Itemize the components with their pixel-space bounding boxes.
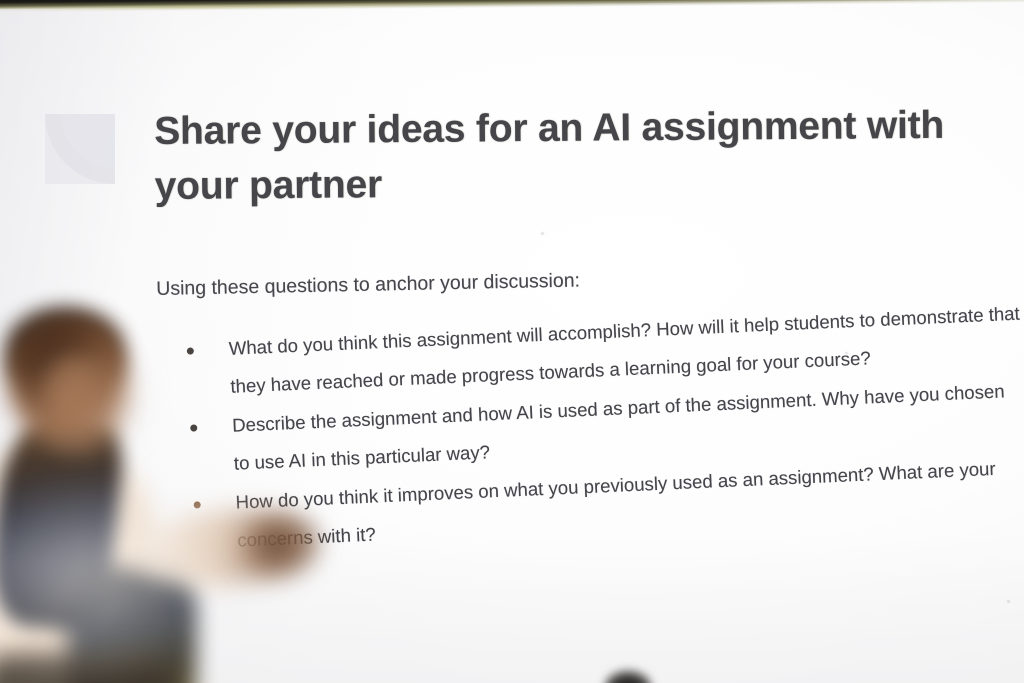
- bullet-dot-icon: [190, 424, 197, 431]
- bullet-dot-icon: [194, 501, 201, 508]
- slide-content: Share your ideas for an AI assignment wi…: [0, 0, 1024, 683]
- bullet-dot-icon: [187, 347, 194, 354]
- dust-speck: [541, 232, 544, 235]
- dust-speck: [1007, 600, 1010, 603]
- slide-bullet-list: What do you think this assignment will a…: [180, 295, 1024, 563]
- slide-title: Share your ideas for an AI assignment wi…: [154, 97, 1000, 214]
- quarter-circle-decoration-icon: [45, 114, 115, 184]
- dust-speck: [845, 352, 848, 354]
- slide-photo-frame: Share your ideas for an AI assignment wi…: [0, 0, 1024, 683]
- slide-lead-text: Using these questions to anchor your dis…: [156, 268, 580, 302]
- dust-speck: [636, 372, 639, 375]
